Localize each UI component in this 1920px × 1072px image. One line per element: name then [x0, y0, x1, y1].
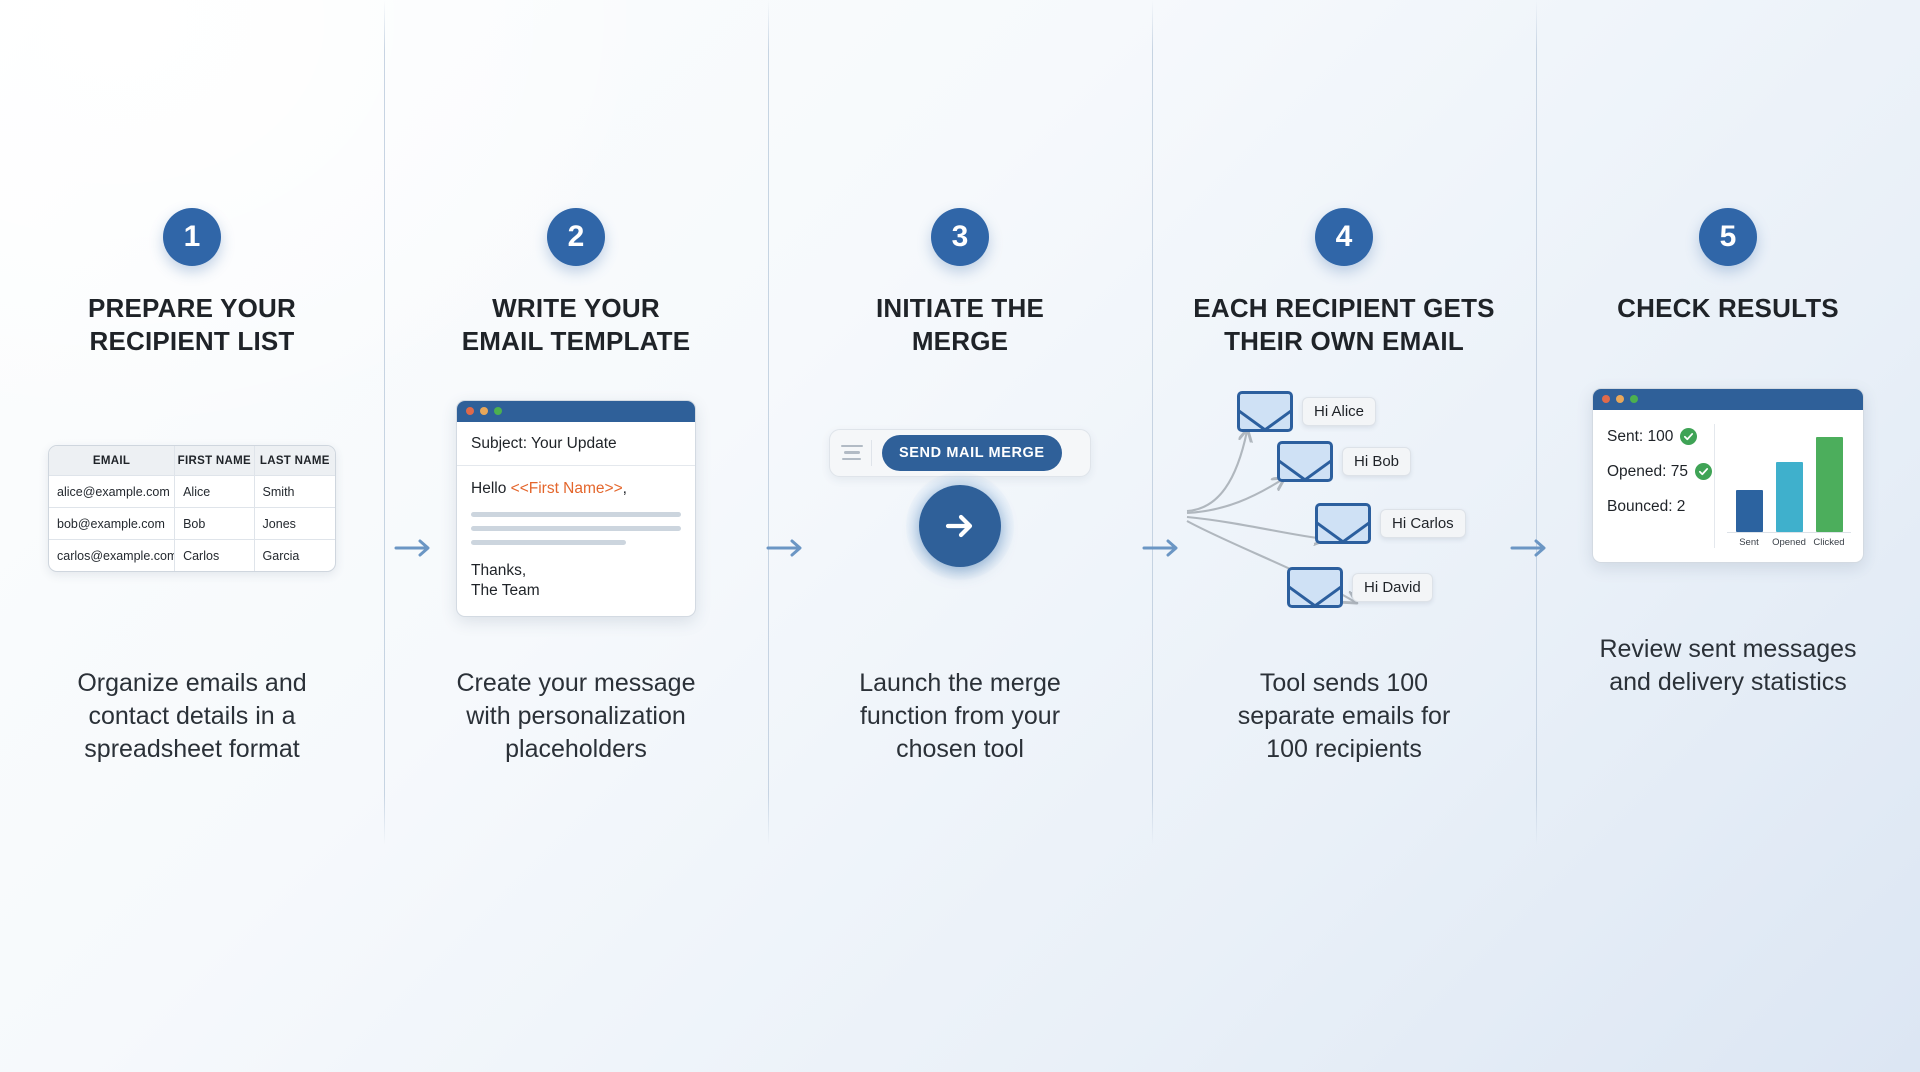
step-title-1: PREPARE YOUR RECIPIENT LIST [22, 292, 362, 359]
step-caption-2: Create your message with personalization… [426, 667, 726, 766]
column-header-last-name: LAST NAME [254, 446, 335, 475]
step-art-3: SEND MAIL MERGE [768, 359, 1152, 659]
stat-label: Opened: 75 [1607, 463, 1688, 481]
hamburger-menu-icon[interactable] [830, 440, 872, 466]
email-signature: Thanks, The Team [471, 561, 681, 601]
email-template-window: Subject: Your Update Hello <<First Name>… [456, 400, 696, 618]
recipient-greeting-chip: Hi Bob [1342, 447, 1411, 476]
email-subject-line: Subject: Your Update [457, 422, 695, 466]
arrow-right-icon [940, 506, 980, 546]
chart-tick-labels: Sent Opened Clicked [1727, 533, 1851, 548]
window-title-bar [457, 401, 695, 422]
body-placeholder-lines [471, 512, 681, 545]
column-header-email: EMAIL [49, 446, 174, 475]
cell-last-name: Smith [254, 476, 335, 507]
tick-label-clicked: Clicked [1809, 537, 1849, 548]
envelope-icon [1287, 567, 1343, 608]
step-art-2: Subject: Your Update Hello <<First Name>… [384, 359, 768, 659]
delivery-bar-chart: Sent Opened Clicked [1715, 424, 1863, 548]
step-art-1: EMAIL FIRST NAME LAST NAME alice@example… [0, 359, 384, 659]
table-row: carlos@example.com Carlos Garcia [49, 539, 335, 571]
cell-email: bob@example.com [49, 508, 174, 539]
close-dot-icon [466, 407, 474, 415]
step-column-3: 3 INITIATE THE MERGE SEND MAIL MERGE [768, 0, 1152, 1072]
delivery-stats-list: Sent: 100 Opened: 75 Bounc [1593, 424, 1715, 548]
recipient-email-4: Hi David [1287, 567, 1433, 608]
placeholder-line [471, 540, 626, 545]
greeting-suffix: , [623, 480, 627, 497]
step-column-2: 2 WRITE YOUR EMAIL TEMPLATE Subject: You… [384, 0, 768, 1072]
launch-merge-button[interactable] [919, 485, 1001, 567]
flow-arrow-4-to-5 [1510, 535, 1556, 561]
table-row: bob@example.com Bob Jones [49, 507, 335, 539]
step-art-5: Sent: 100 Opened: 75 Bounc [1536, 325, 1920, 625]
recipient-greeting-chip: Hi David [1352, 573, 1433, 602]
cell-email: alice@example.com [49, 476, 174, 507]
results-window: Sent: 100 Opened: 75 Bounc [1592, 388, 1864, 563]
cell-last-name: Jones [254, 508, 335, 539]
stat-label: Bounced: 2 [1607, 498, 1685, 516]
flow-arrow-2-to-3 [766, 535, 812, 561]
recipient-email-3: Hi Carlos [1315, 503, 1466, 544]
recipient-email-2: Hi Bob [1277, 441, 1411, 482]
close-dot-icon [1602, 395, 1610, 403]
cell-last-name: Garcia [254, 540, 335, 571]
greeting-prefix: Hello [471, 480, 511, 497]
step-number-badge-5: 5 [1699, 208, 1757, 266]
cell-first-name: Alice [174, 476, 253, 507]
flow-arrow-3-to-4 [1142, 535, 1188, 561]
stat-label: Sent: 100 [1607, 428, 1673, 446]
cell-email: carlos@example.com [49, 540, 174, 571]
step-number-badge-3: 3 [931, 208, 989, 266]
step-title-3: INITIATE THE MERGE [790, 292, 1130, 359]
step-caption-5: Review sent messages and delivery statis… [1578, 633, 1878, 699]
maximize-dot-icon [1630, 395, 1638, 403]
step-caption-4: Tool sends 100 separate emails for 100 r… [1194, 667, 1494, 766]
step-column-1: 1 PREPARE YOUR RECIPIENT LIST EMAIL FIRS… [0, 0, 384, 1072]
step-title-5: CHECK RESULTS [1558, 292, 1898, 325]
cell-first-name: Carlos [174, 540, 253, 571]
table-row: alice@example.com Alice Smith [49, 475, 335, 507]
placeholder-line [471, 526, 681, 531]
step-caption-1: Organize emails and contact details in a… [42, 667, 342, 766]
bar-clicked [1816, 437, 1843, 532]
launch-merge-control [905, 471, 1015, 581]
tick-label-opened: Opened [1769, 537, 1809, 548]
tick-label-sent: Sent [1729, 537, 1769, 548]
stat-sent: Sent: 100 [1607, 428, 1714, 446]
stat-opened: Opened: 75 [1607, 463, 1714, 481]
stat-bounced: Bounced: 2 [1607, 498, 1714, 516]
merge-toolbar: SEND MAIL MERGE [829, 429, 1091, 477]
bar-sent [1736, 490, 1763, 532]
envelope-icon [1315, 503, 1371, 544]
email-greeting: Hello <<First Name>>, [471, 480, 681, 498]
envelope-icon [1237, 391, 1293, 432]
minimize-dot-icon [1616, 395, 1624, 403]
recipient-email-1: Hi Alice [1237, 391, 1376, 432]
step-column-4: 4 EACH RECIPIENT GETS THEIR OWN EMAIL [1152, 0, 1536, 1072]
step-number-badge-2: 2 [547, 208, 605, 266]
step-title-2: WRITE YOUR EMAIL TEMPLATE [406, 292, 746, 359]
envelope-icon [1277, 441, 1333, 482]
spreadsheet-header-row: EMAIL FIRST NAME LAST NAME [49, 446, 335, 475]
merge-field-placeholder: <<First Name>> [511, 480, 623, 497]
window-title-bar [1593, 389, 1863, 410]
check-circle-icon [1680, 428, 1697, 445]
step-caption-3: Launch the merge function from your chos… [810, 667, 1110, 766]
recipient-spreadsheet: EMAIL FIRST NAME LAST NAME alice@example… [48, 445, 336, 572]
bar-opened [1776, 462, 1803, 532]
recipient-greeting-chip: Hi Alice [1302, 397, 1376, 426]
placeholder-line [471, 512, 681, 517]
mail-merge-flow-diagram: 1 PREPARE YOUR RECIPIENT LIST EMAIL FIRS… [0, 0, 1920, 1072]
email-body: Hello <<First Name>>, Thanks, The Team [457, 466, 695, 617]
maximize-dot-icon [494, 407, 502, 415]
step-number-badge-4: 4 [1315, 208, 1373, 266]
minimize-dot-icon [480, 407, 488, 415]
column-header-first-name: FIRST NAME [174, 446, 253, 475]
step-art-4: Hi Alice Hi Bob Hi Carlos Hi David [1152, 359, 1536, 659]
check-circle-icon [1695, 463, 1712, 480]
chart-bars [1727, 432, 1851, 533]
flow-arrow-1-to-2 [394, 535, 440, 561]
step-title-4: EACH RECIPIENT GETS THEIR OWN EMAIL [1174, 292, 1514, 359]
send-mail-merge-button[interactable]: SEND MAIL MERGE [882, 435, 1062, 471]
recipient-greeting-chip: Hi Carlos [1380, 509, 1466, 538]
step-column-5: 5 CHECK RESULTS Sent: 100 [1536, 0, 1920, 1072]
cell-first-name: Bob [174, 508, 253, 539]
step-number-badge-1: 1 [163, 208, 221, 266]
